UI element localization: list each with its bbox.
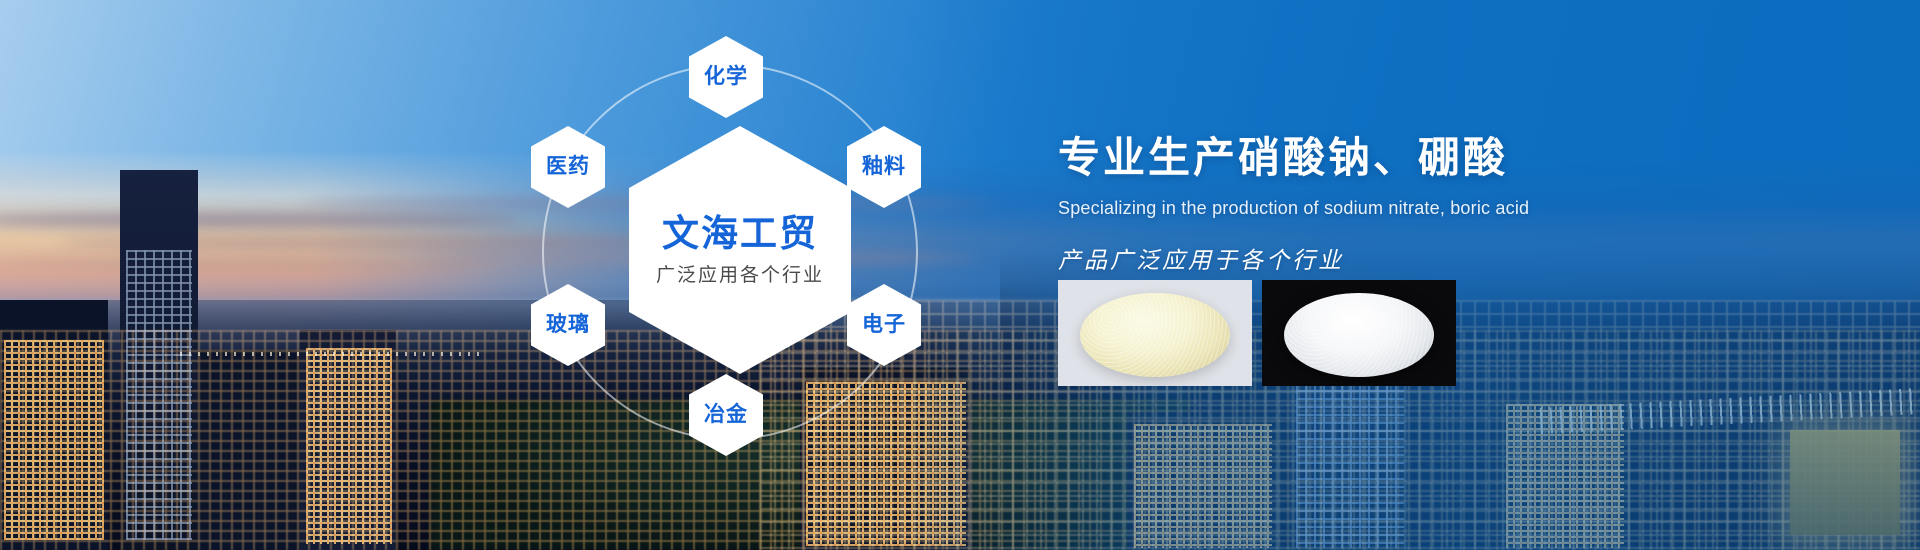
illuminated-landmark [1790, 430, 1900, 535]
hero-banner: 化学 釉料 电子 冶金 玻璃 医药 文海工贸 广泛应用各个行业 专业生产硝酸钠、… [0, 0, 1920, 550]
powder-texture [1080, 293, 1230, 377]
hex-node-label: 化学 [704, 65, 748, 89]
headline-english: Specializing in the production of sodium… [1058, 198, 1838, 219]
company-name: 文海工贸 [662, 213, 818, 256]
headline-block: 专业生产硝酸钠、硼酸 Specializing in the productio… [1058, 124, 1838, 275]
product-photo-boric-acid [1262, 280, 1456, 386]
hex-node-label: 玻璃 [546, 313, 590, 337]
product-photo-sodium-nitrate [1058, 280, 1252, 386]
powder-heap [1080, 293, 1230, 377]
hex-node-label: 冶金 [704, 403, 748, 427]
product-photo-group [1058, 280, 1456, 386]
powder-heap [1284, 293, 1434, 377]
bridge-lights [180, 352, 480, 356]
industry-hex-diagram: 化学 釉料 电子 冶金 玻璃 医药 文海工贸 广泛应用各个行业 [520, 38, 960, 508]
powder-texture [1284, 293, 1434, 377]
hex-node-label: 医药 [546, 155, 590, 179]
tagline: 产品广泛应用于各个行业 [1058, 241, 1838, 275]
company-tagline: 广泛应用各个行业 [656, 265, 824, 287]
hex-node-label: 电子 [862, 313, 906, 337]
headline: 专业生产硝酸钠、硼酸 [1058, 124, 1838, 185]
hex-node-label: 釉料 [862, 155, 906, 179]
cloud-streak [0, 258, 500, 270]
